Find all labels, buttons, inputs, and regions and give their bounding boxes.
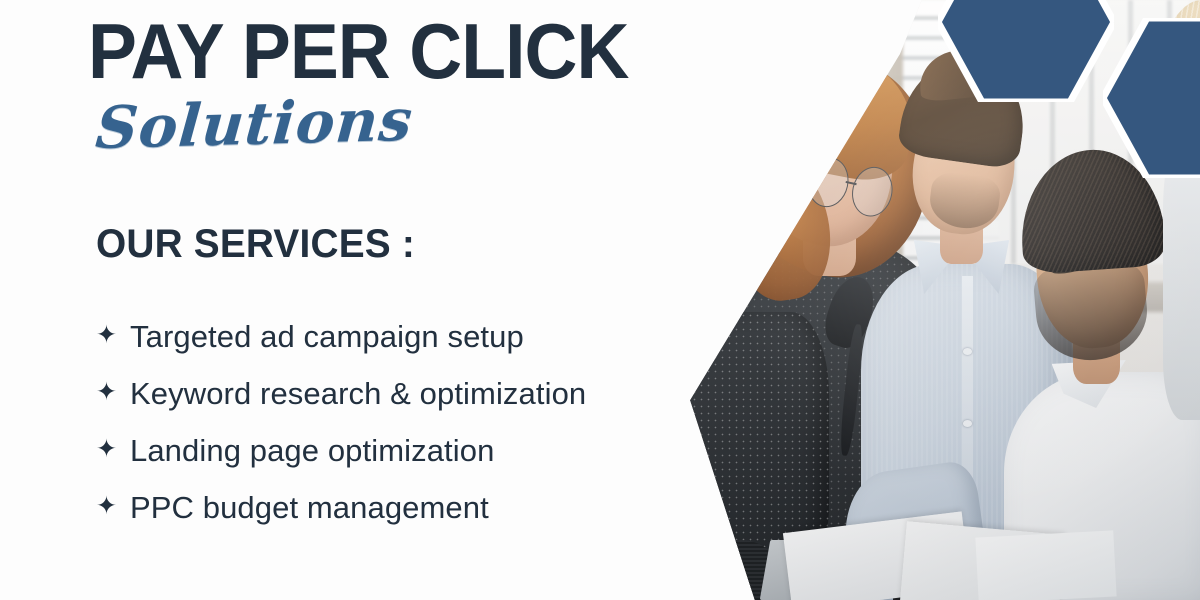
service-label: Keyword research & optimization — [130, 376, 586, 412]
hexagon-decor-left — [938, 0, 1114, 102]
document-sheet — [976, 530, 1117, 600]
list-item: ✦ Landing page optimization — [96, 422, 736, 479]
service-label: Landing page optimization — [130, 433, 494, 469]
list-item: ✦ Targeted ad campaign setup — [96, 308, 736, 365]
hexagon-decor-right — [1103, 18, 1200, 178]
sparkle-icon: ✦ — [96, 323, 130, 348]
brand-script-word: Solutions — [93, 86, 415, 162]
services-heading: OUR SERVICES : — [96, 222, 415, 267]
service-label: PPC budget management — [130, 490, 489, 526]
shirt-button — [963, 420, 972, 427]
sparkle-icon: ✦ — [96, 494, 130, 519]
ppc-services-poster: PAY PER CLICK Solutions OUR SERVICES : ✦… — [0, 0, 1200, 600]
sparkle-icon: ✦ — [96, 380, 130, 405]
services-list: ✦ Targeted ad campaign setup ✦ Keyword r… — [96, 308, 736, 536]
service-label: Targeted ad campaign setup — [130, 319, 524, 355]
sparkle-icon: ✦ — [96, 437, 130, 462]
list-item: ✦ PPC budget management — [96, 479, 736, 536]
shirt-button — [963, 348, 972, 355]
page-title: PAY PER CLICK — [88, 14, 629, 89]
list-item: ✦ Keyword research & optimization — [96, 365, 736, 422]
